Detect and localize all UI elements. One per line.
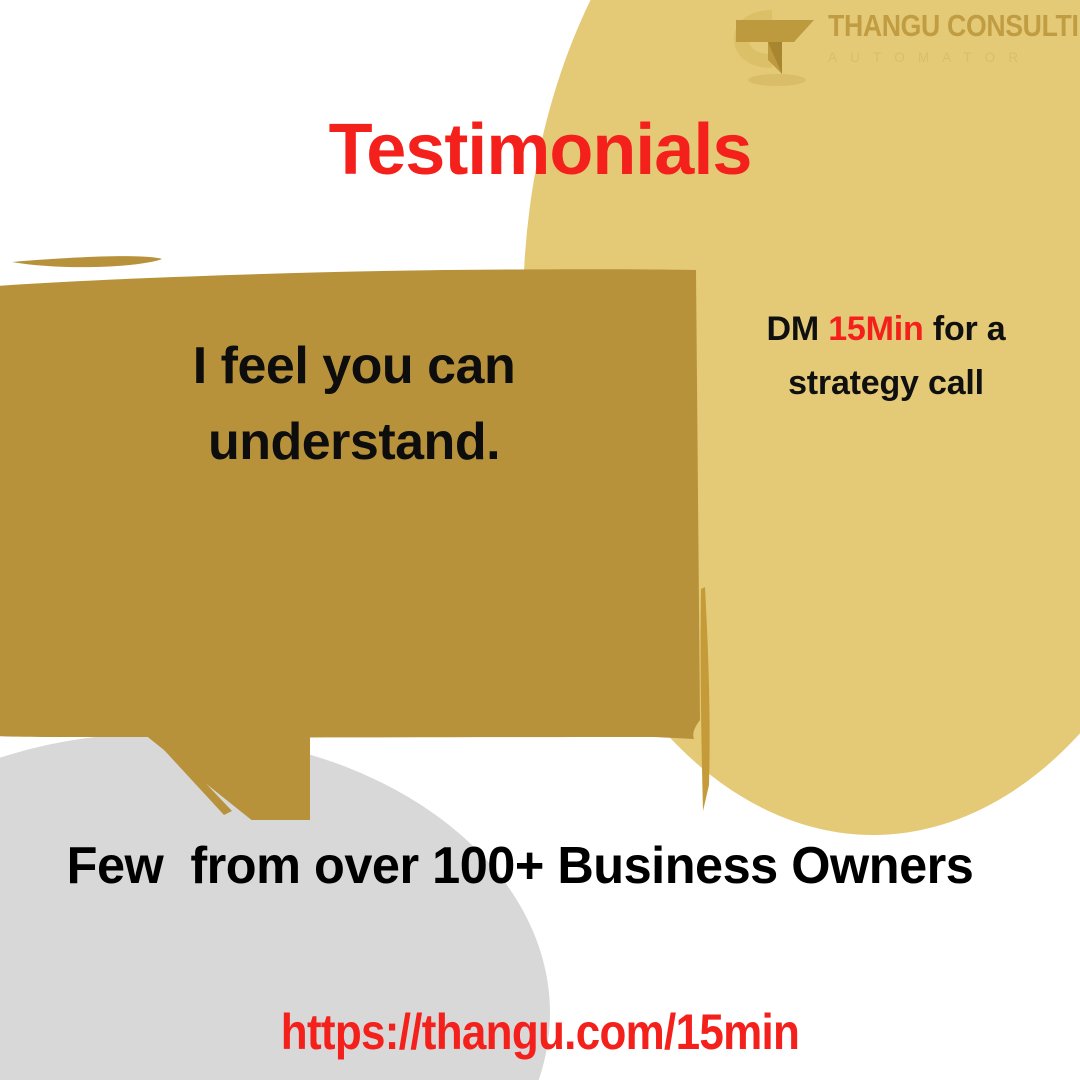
- ct-monogram-icon: [716, 4, 834, 88]
- social-proof-banner: Few from over 100+ Business Owners: [16, 832, 1025, 900]
- brand-logo[interactable]: THANGU CONSULTING AUTOMATOR: [716, 2, 1080, 88]
- cta-prefix: DM: [766, 310, 828, 348]
- page-title: Testimonials: [0, 108, 1080, 192]
- bubble-right-sliver: [694, 585, 724, 815]
- testimonial-quote: I feel you can understand.: [54, 328, 654, 480]
- testimonial-poster: THANGU CONSULTING AUTOMATOR Testimonials…: [0, 0, 1080, 1080]
- cta-highlight: 15Min: [828, 310, 923, 348]
- logo-brand-text: THANGU CONSULTING: [828, 8, 1045, 44]
- logo-text-block: THANGU CONSULTING AUTOMATOR: [828, 8, 1080, 68]
- booking-url[interactable]: https://thangu.com/15min: [65, 1002, 1015, 1062]
- cta-text: DM 15Min for a strategy call: [700, 302, 1072, 410]
- testimonial-speech-bubble: I feel you can understand.: [0, 250, 714, 820]
- logo-tagline-text: AUTOMATOR: [828, 46, 1072, 68]
